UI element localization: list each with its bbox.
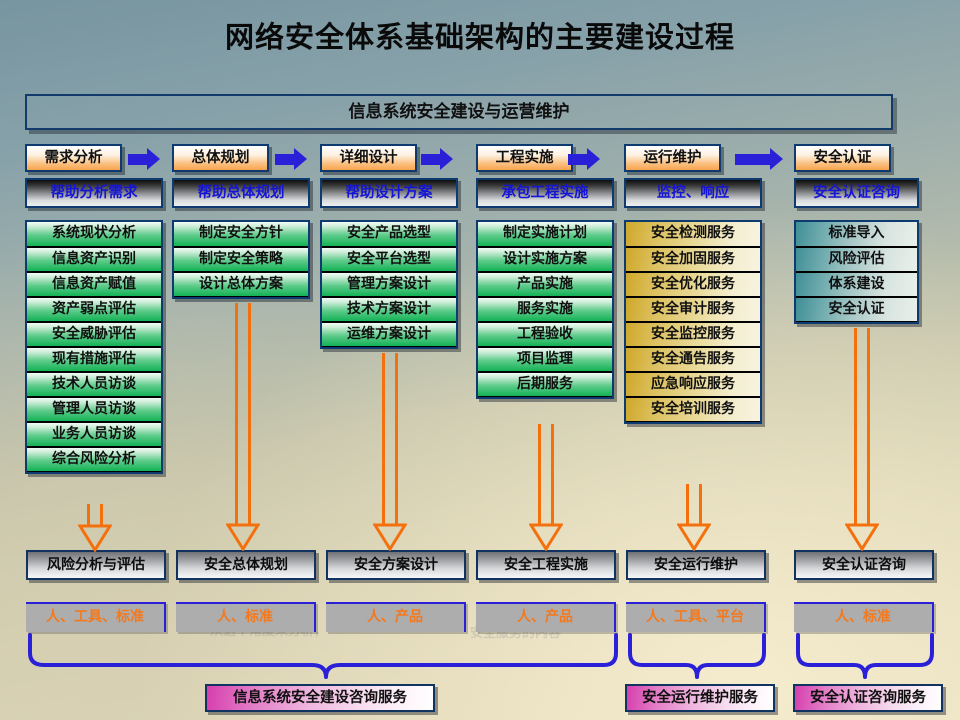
list-item[interactable]: 工程验收 [478, 322, 612, 347]
list-item[interactable]: 管理人员访谈 [27, 397, 161, 422]
result-label: 安全总体规划 [178, 552, 314, 578]
phase-head-label: 运行维护 [626, 146, 719, 170]
phase-head-1[interactable]: 需求分析 [25, 144, 122, 172]
resource-label: 人、标准 [176, 604, 314, 630]
list-item[interactable]: 管理方案设计 [322, 272, 456, 297]
phase-items-3: 安全产品选型 安全平台选型 管理方案设计 技术方案设计 运维方案设计 [320, 220, 458, 349]
service-label: 安全运行维护服务 [627, 686, 773, 710]
result-label: 安全工程实施 [478, 552, 614, 578]
list-item[interactable]: 技术人员访谈 [27, 372, 161, 397]
list-item[interactable]: 项目监理 [478, 347, 612, 372]
down-arrow-2 [226, 303, 260, 551]
list-item[interactable]: 安全培训服务 [626, 397, 760, 422]
list-item[interactable]: 设计总体方案 [174, 272, 308, 297]
result-label: 安全运行维护 [628, 552, 764, 578]
phase-items-1: 系统现状分析 信息资产识别 信息资产赋值 资产弱点评估 安全威胁评估 现有措施评… [25, 220, 163, 474]
list-item[interactable]: 系统现状分析 [27, 222, 161, 247]
list-item[interactable]: 业务人员访谈 [27, 422, 161, 447]
down-arrow-1 [78, 504, 112, 550]
page-title: 网络安全体系基础架构的主要建设过程 [0, 14, 960, 56]
down-arrow-6 [845, 328, 879, 551]
service-box-certification[interactable]: 安全认证咨询服务 [793, 684, 943, 712]
service-label: 安全认证咨询服务 [795, 686, 941, 710]
resource-label: 人、工具、标准 [26, 604, 164, 630]
list-item[interactable]: 服务实施 [478, 297, 612, 322]
phase-sub-label: 监控、响应 [626, 180, 760, 206]
result-label: 风险分析与评估 [28, 552, 164, 578]
list-item[interactable]: 安全加固服务 [626, 247, 760, 272]
banner-lifecycle: 信息系统安全建设与运营维护 [25, 94, 893, 130]
list-item[interactable]: 制定实施计划 [478, 222, 612, 247]
resource-label: 人、标准 [794, 604, 932, 630]
phase-head-label: 总体规划 [174, 146, 267, 170]
list-item[interactable]: 制定安全方针 [174, 222, 308, 247]
list-item[interactable]: 信息资产赋值 [27, 272, 161, 297]
resource-label: 人、产品 [326, 604, 464, 630]
resource-box-4: 人、产品 [476, 602, 616, 632]
result-label: 安全认证咨询 [796, 552, 932, 578]
list-item[interactable]: 后期服务 [478, 372, 612, 397]
phase-items-6: 标准导入 风险评估 体系建设 安全认证 [794, 220, 919, 324]
list-item[interactable]: 安全检测服务 [626, 222, 760, 247]
list-item[interactable]: 现有措施评估 [27, 347, 161, 372]
phase-head-6[interactable]: 安全认证 [794, 144, 891, 172]
list-item[interactable]: 安全产品选型 [322, 222, 456, 247]
phase-items-2: 制定安全方针 制定安全策略 设计总体方案 [172, 220, 310, 299]
result-box-3[interactable]: 安全方案设计 [326, 550, 466, 580]
list-item[interactable]: 安全通告服务 [626, 347, 760, 372]
phase-head-5[interactable]: 运行维护 [624, 144, 721, 172]
brace-operation [626, 633, 768, 683]
list-item[interactable]: 安全优化服务 [626, 272, 760, 297]
list-item[interactable]: 技术方案设计 [322, 297, 456, 322]
list-item[interactable]: 资产弱点评估 [27, 297, 161, 322]
list-item[interactable]: 安全监控服务 [626, 322, 760, 347]
phase-sub-label: 帮助设计方案 [322, 180, 456, 206]
result-box-2[interactable]: 安全总体规划 [176, 550, 316, 580]
phase-head-label: 需求分析 [27, 146, 120, 170]
list-item[interactable]: 安全平台选型 [322, 247, 456, 272]
service-box-consulting[interactable]: 信息系统安全建设咨询服务 [205, 684, 435, 712]
resource-label: 人、产品 [476, 604, 614, 630]
down-arrow-3 [373, 353, 407, 551]
result-box-4[interactable]: 安全工程实施 [476, 550, 616, 580]
list-item[interactable]: 安全威胁评估 [27, 322, 161, 347]
resource-label: 人、工具、平台 [626, 604, 764, 630]
service-box-operation[interactable]: 安全运行维护服务 [625, 684, 775, 712]
phase-items-5: 安全检测服务 安全加固服务 安全优化服务 安全审计服务 安全监控服务 安全通告服… [624, 220, 762, 424]
list-item[interactable]: 体系建设 [796, 272, 917, 297]
list-item[interactable]: 安全审计服务 [626, 297, 760, 322]
phase-sub-1[interactable]: 帮助分析需求 [25, 178, 163, 208]
resource-box-1: 人、工具、标准 [26, 602, 166, 632]
resource-box-6: 人、标准 [794, 602, 934, 632]
flow-arrow-1 [128, 148, 161, 171]
phase-head-4[interactable]: 工程实施 [476, 144, 573, 172]
banner-label: 信息系统安全建设与运营维护 [27, 96, 891, 128]
slide-canvas: 网络安全体系基础架构的主要建设过程 信息系统安全建设与运营维护 需求分析 帮助分… [0, 0, 960, 720]
flow-arrow-4 [568, 148, 601, 171]
phase-sub-label: 帮助总体规划 [174, 180, 308, 206]
list-item[interactable]: 产品实施 [478, 272, 612, 297]
result-label: 安全方案设计 [328, 552, 464, 578]
brace-certification [794, 633, 936, 683]
resource-box-2: 人、标准 [176, 602, 316, 632]
phase-sub-label: 安全认证咨询 [796, 180, 917, 206]
phase-head-label: 安全认证 [796, 146, 889, 170]
phase-sub-2[interactable]: 帮助总体规划 [172, 178, 310, 208]
phase-items-4: 制定实施计划 设计实施方案 产品实施 服务实施 工程验收 项目监理 后期服务 [476, 220, 614, 399]
phase-sub-label: 帮助分析需求 [27, 180, 161, 206]
brace-consulting [26, 633, 618, 683]
list-item[interactable]: 综合风险分析 [27, 447, 161, 472]
flow-arrow-3 [421, 148, 454, 171]
list-item[interactable]: 应急响应服务 [626, 372, 760, 397]
list-item[interactable]: 信息资产识别 [27, 247, 161, 272]
down-arrow-4 [529, 424, 563, 551]
list-item[interactable]: 运维方案设计 [322, 322, 456, 347]
flow-arrow-5 [735, 148, 785, 171]
phase-sub-4[interactable]: 承包工程实施 [476, 178, 614, 208]
resource-box-5: 人、工具、平台 [626, 602, 766, 632]
result-box-6[interactable]: 安全认证咨询 [794, 550, 934, 580]
phase-head-3[interactable]: 详细设计 [320, 144, 417, 172]
phase-sub-6[interactable]: 安全认证咨询 [794, 178, 919, 208]
service-label: 信息系统安全建设咨询服务 [207, 686, 433, 710]
list-item[interactable]: 安全认证 [796, 297, 917, 322]
list-item[interactable]: 设计实施方案 [478, 247, 612, 272]
phase-sub-5[interactable]: 监控、响应 [624, 178, 762, 208]
resource-box-3: 人、产品 [326, 602, 466, 632]
list-item[interactable]: 制定安全策略 [174, 247, 308, 272]
list-item[interactable]: 标准导入 [796, 222, 917, 247]
down-arrow-5 [677, 484, 711, 551]
result-box-1[interactable]: 风险分析与评估 [26, 550, 166, 580]
result-box-5[interactable]: 安全运行维护 [626, 550, 766, 580]
phase-sub-label: 承包工程实施 [478, 180, 612, 206]
phase-head-label: 工程实施 [478, 146, 571, 170]
phase-head-label: 详细设计 [322, 146, 415, 170]
phase-sub-3[interactable]: 帮助设计方案 [320, 178, 458, 208]
phase-head-2[interactable]: 总体规划 [172, 144, 269, 172]
flow-arrow-2 [275, 148, 308, 171]
list-item[interactable]: 风险评估 [796, 247, 917, 272]
